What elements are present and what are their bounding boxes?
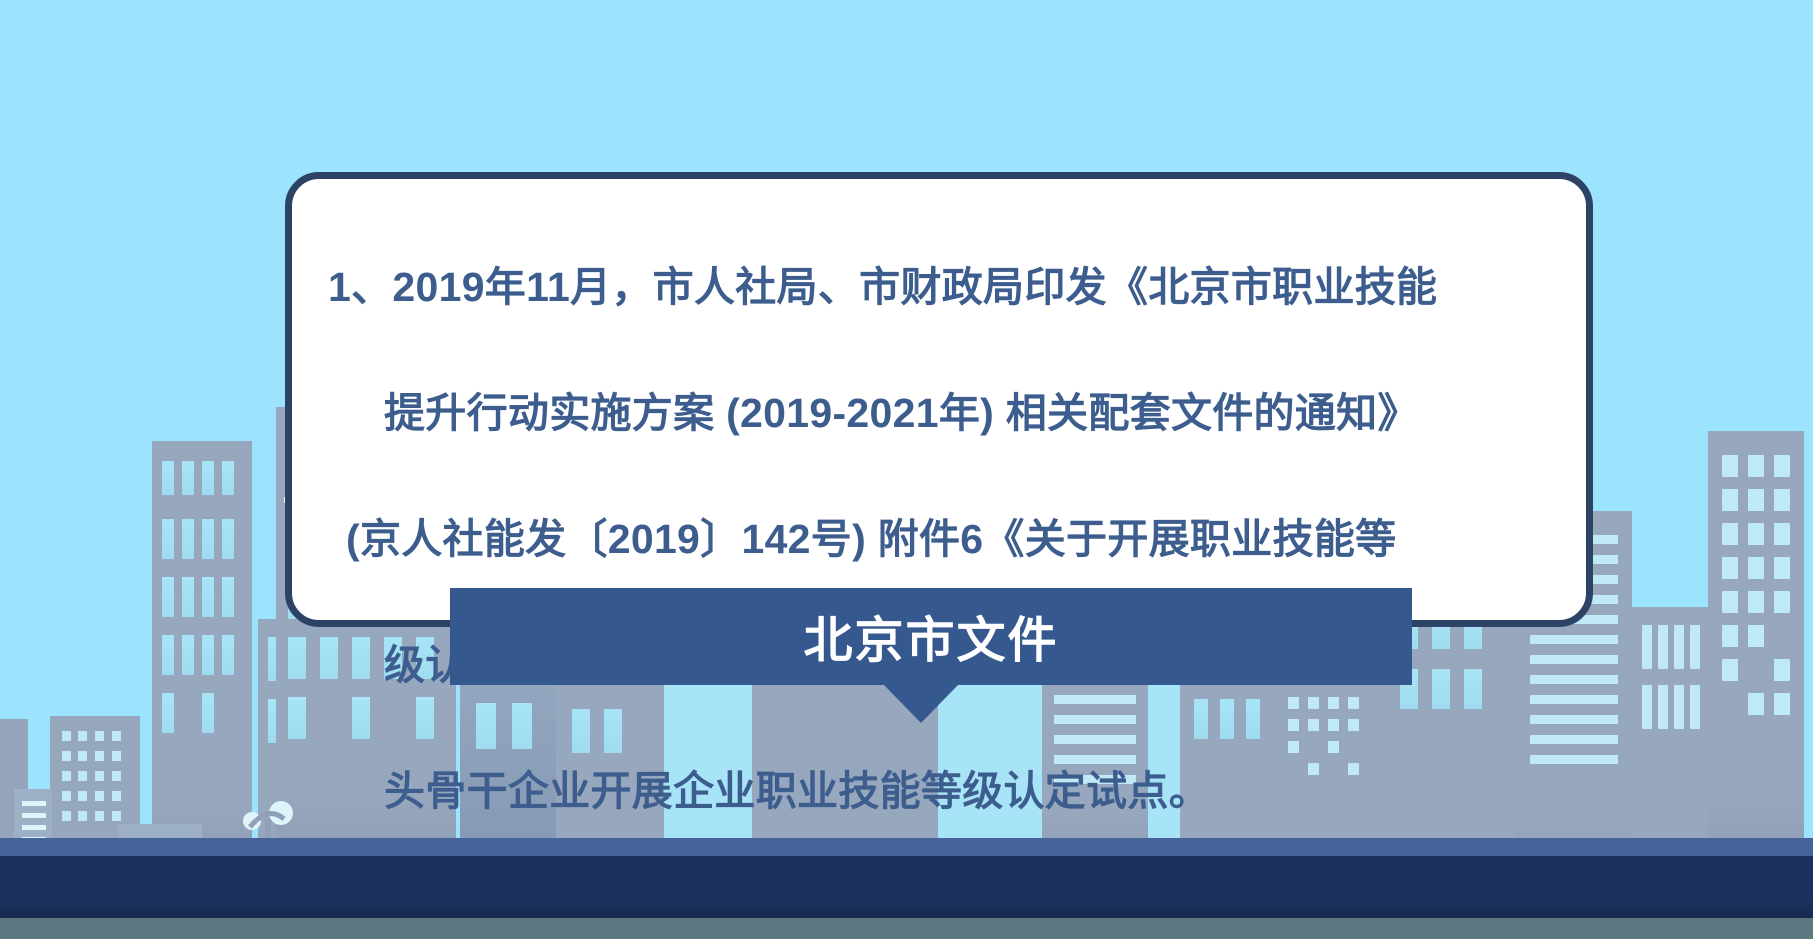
document-line-5: 头骨干企业开展企业职业技能等级认定试点。 — [328, 760, 1550, 823]
document-callout-card: 1、2019年11月，市人社局、市财政局印发《北京市职业技能 提升行动实施方案 … — [285, 172, 1593, 627]
document-line-2: 提升行动实施方案 (2019-2021年) 相关配套文件的通知》 — [328, 382, 1550, 445]
document-source-banner: 北京市文件 — [450, 588, 1412, 685]
document-line-1: 1、2019年11月，市人社局、市财政局印发《北京市职业技能 — [328, 256, 1550, 319]
street-band — [0, 838, 1813, 856]
document-line-3: (京人社能发〔2019〕142号) 附件6《关于开展职业技能等 — [328, 508, 1550, 571]
banner-pointer-triangle — [884, 685, 958, 723]
infographic-slide: 1、2019年11月，市人社局、市财政局印发《北京市职业技能 提升行动实施方案 … — [0, 0, 1813, 939]
document-body-text: 1、2019年11月，市人社局、市财政局印发《北京市职业技能 提升行动实施方案 … — [292, 193, 1586, 886]
document-source-label: 北京市文件 — [450, 588, 1412, 685]
foreground-band — [0, 918, 1813, 939]
ground-band — [0, 856, 1813, 918]
